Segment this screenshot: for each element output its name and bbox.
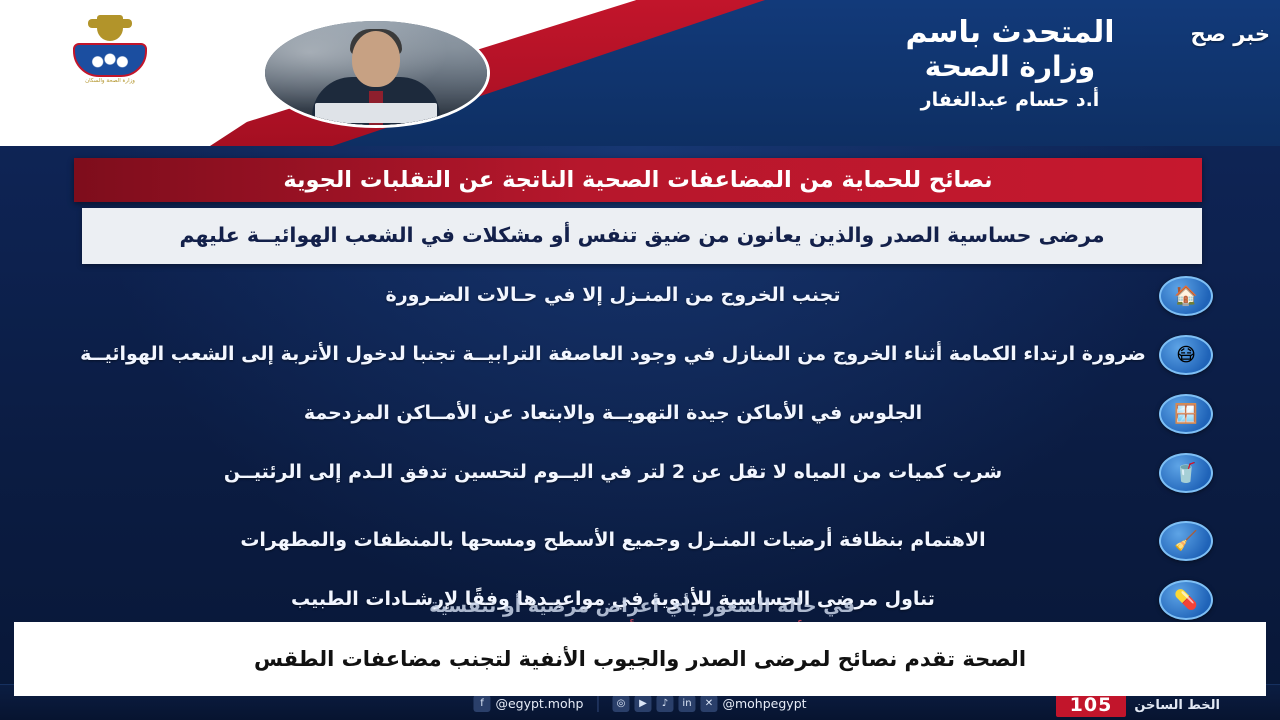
- hotline-label: الخط الساخن: [1134, 698, 1220, 713]
- subtitle-text: مرضى حساسية الصدر والذين يعانون من ضيق ت…: [179, 222, 1104, 250]
- tip-bullet: 🪟: [1156, 393, 1216, 435]
- header-banner: وزارة الصحة والسكان المتحدث باسم وزارة ا…: [0, 0, 1280, 146]
- tip-text: الجلوس في الأماكن جيدة التهويــة والابتع…: [70, 400, 1156, 428]
- window-ventilation-icon: 🪟: [1159, 394, 1213, 434]
- facebook-group[interactable]: f @egypt.mohp: [473, 695, 583, 712]
- header-title-line1: المتحدث باسم: [770, 16, 1250, 51]
- tip-bullet: 🏠: [1156, 275, 1216, 317]
- laptop-icon: [315, 103, 437, 123]
- tip-bullet: 🥤: [1156, 452, 1216, 494]
- water-glass-icon: 🥤: [1159, 453, 1213, 493]
- news-badge: خبر صح: [1190, 22, 1270, 46]
- caption-text: الصحة تقدم نصائح لمرضى الصدر والجيوب الأ…: [14, 647, 1266, 671]
- infographic-page: وزارة الصحة والسكان المتحدث باسم وزارة ا…: [0, 0, 1280, 720]
- speaker-name: أ.د حسام عبدالغفار: [770, 89, 1250, 111]
- speaker-head: [352, 31, 400, 87]
- x-twitter-icon[interactable]: ✕: [700, 695, 717, 712]
- tip-text: تجنب الخروج من المنـزل إلا في حـالات الض…: [70, 282, 1156, 310]
- speaker-photo: [262, 18, 490, 128]
- hotline: الخط الساخن 105: [1056, 693, 1220, 717]
- linkedin-icon[interactable]: in: [678, 695, 695, 712]
- facebook-icon[interactable]: f: [473, 695, 490, 712]
- tips-list: 🏠 تجنب الخروج من المنـزل إلا في حـالات ا…: [70, 274, 1220, 628]
- other-socials-group[interactable]: ◎ ▶ ♪ in ✕ @mohpegypt: [612, 695, 806, 712]
- eagle-emblem-icon: [97, 15, 123, 41]
- tip-bullet: 🧹: [1156, 520, 1216, 562]
- family-figures-icon: [88, 51, 132, 69]
- ministry-of-health-egypt-logo: وزارة الصحة والسكان: [55, 12, 165, 86]
- list-item: 🪟 الجلوس في الأماكن جيدة التهويــة والاب…: [70, 392, 1220, 436]
- list-item: 🏠 تجنب الخروج من المنـزل إلا في حـالات ا…: [70, 274, 1220, 318]
- header-title-line2: وزارة الصحة: [770, 51, 1250, 83]
- house-icon: 🏠: [1159, 276, 1213, 316]
- youtube-icon[interactable]: ▶: [634, 695, 651, 712]
- crest-shield-icon: [73, 43, 147, 77]
- cleaning-supplies-icon: 🧹: [1159, 521, 1213, 561]
- tip-bullet: 😷: [1156, 334, 1216, 376]
- tip-text: شرب كميات من المياه لا تقل عن 2 لتر في ا…: [70, 459, 1156, 487]
- face-mask-icon: 😷: [1159, 335, 1213, 375]
- footer-note-line1: في حالة الشعور بأي أعراض مرضية أو تنفسية: [82, 593, 1202, 620]
- instagram-icon[interactable]: ◎: [612, 695, 629, 712]
- divider: [597, 696, 598, 712]
- subtitle-bar: مرضى حساسية الصدر والذين يعانون من ضيق ت…: [82, 208, 1202, 264]
- mohp-handle: @mohpegypt: [722, 696, 806, 711]
- hotline-number: 105: [1056, 693, 1127, 717]
- facebook-handle: @egypt.mohp: [495, 696, 583, 711]
- tip-text: الاهتمام بنظافة أرضيات المنـزل وجميع الأ…: [70, 527, 1156, 555]
- tiktok-icon[interactable]: ♪: [656, 695, 673, 712]
- section-title-text: نصائح للحماية من المضاعفات الصحية الناتج…: [283, 167, 992, 193]
- header-titles: المتحدث باسم وزارة الصحة أ.د حسام عبدالغ…: [770, 16, 1250, 111]
- caption-overlay: الصحة تقدم نصائح لمرضى الصدر والجيوب الأ…: [14, 622, 1266, 696]
- logo-caption: وزارة الصحة والسكان: [85, 78, 135, 84]
- social-links: f @egypt.mohp ◎ ▶ ♪ in ✕ @mohpegypt: [473, 695, 806, 712]
- list-item: 🥤 شرب كميات من المياه لا تقل عن 2 لتر في…: [70, 442, 1220, 504]
- list-item: 🧹 الاهتمام بنظافة أرضيات المنـزل وجميع ا…: [70, 510, 1220, 572]
- list-item: 😷 ضرورة ارتداء الكمامة أثناء الخروج من ا…: [70, 324, 1220, 386]
- tip-text: ضرورة ارتداء الكمامة أثناء الخروج من الم…: [70, 341, 1156, 369]
- section-title-bar: نصائح للحماية من المضاعفات الصحية الناتج…: [74, 158, 1202, 202]
